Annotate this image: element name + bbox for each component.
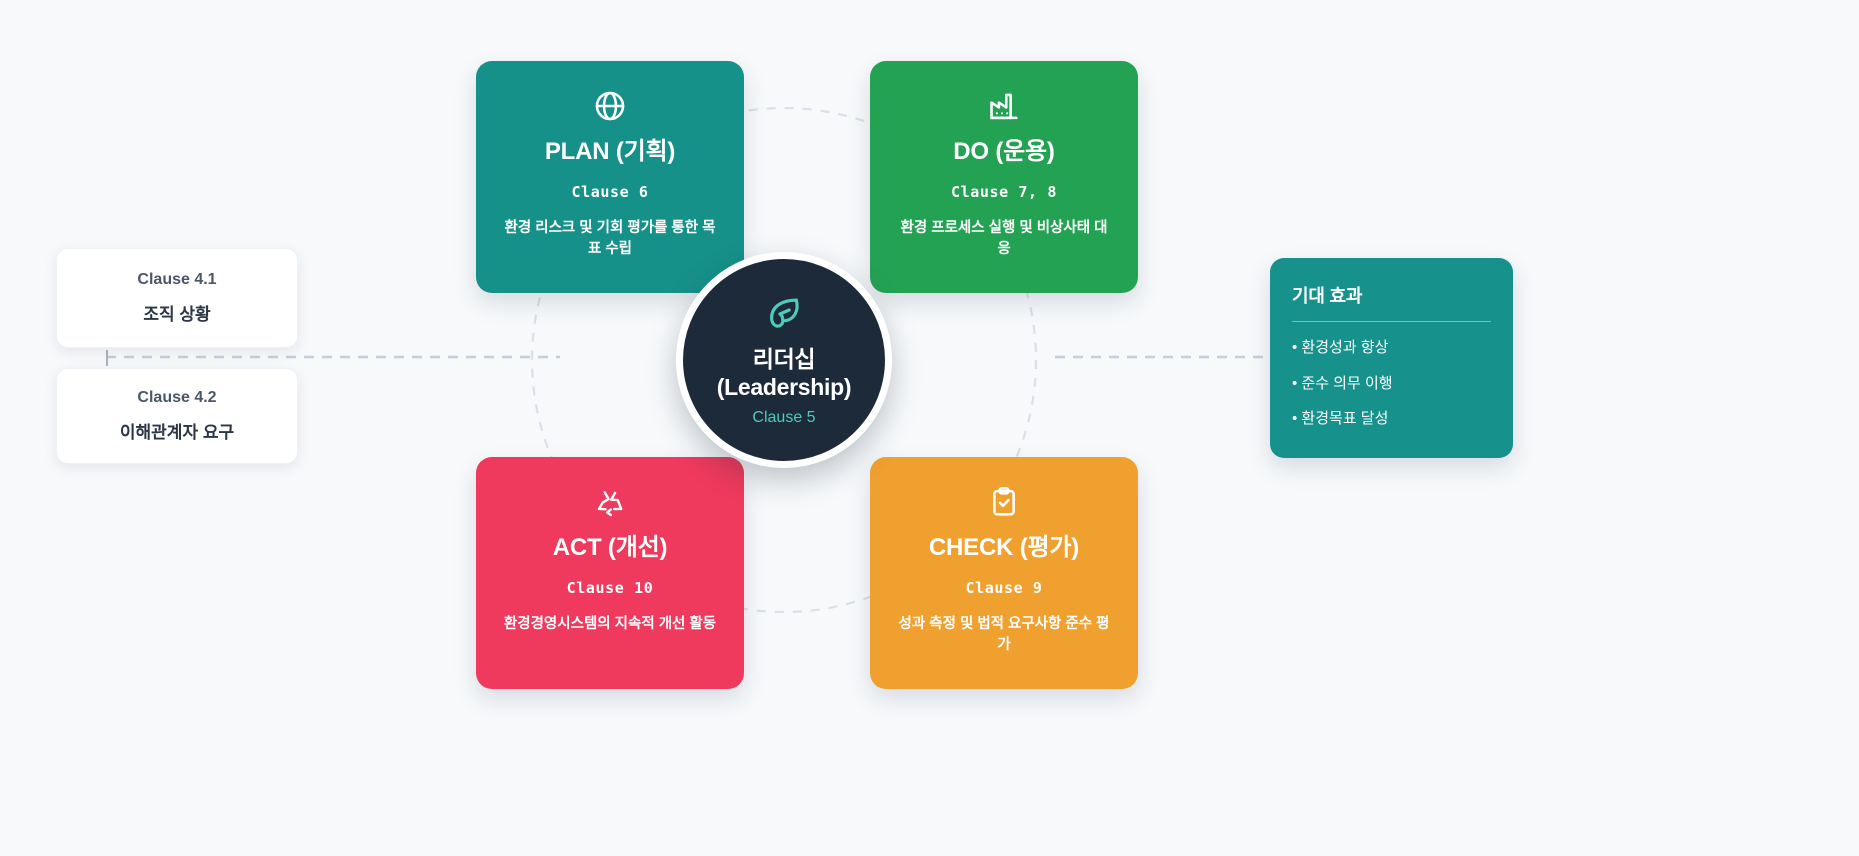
quadrant-description: 환경 프로세스 실행 및 비상사태 대응 [897, 218, 1112, 260]
benefits-divider [1292, 321, 1491, 322]
side-card-clause: Clause 4.2 [137, 389, 216, 407]
quadrant-description: 성과 측정 및 법적 요구사항 준수 평가 [897, 614, 1112, 656]
recycle-icon [593, 485, 627, 519]
quadrant-description: 환경경영시스템의 지속적 개선 활동 [504, 614, 716, 635]
quadrant-clause: Clause 7, 8 [951, 183, 1057, 201]
center-title: 리더십 (Leadership) [717, 345, 851, 401]
quadrant-clause: Clause 10 [567, 579, 654, 597]
quadrant-card-act[interactable]: ACT (개선) Clause 10 환경경영시스템의 지속적 개선 활동 [476, 457, 744, 689]
side-card-clause: Clause 4.1 [137, 271, 216, 289]
leaf-icon [764, 293, 804, 333]
quadrant-title: CHECK (평가) [929, 535, 1079, 561]
factory-icon [987, 89, 1021, 123]
quadrant-card-plan[interactable]: PLAN (기획) Clause 6 환경 리스크 및 기회 평가를 통한 목표… [476, 61, 744, 293]
quadrant-card-do[interactable]: DO (운용) Clause 7, 8 환경 프로세스 실행 및 비상사태 대응 [870, 61, 1138, 293]
benefits-title: 기대 효과 [1292, 282, 1491, 308]
quadrant-clause: Clause 9 [965, 579, 1042, 597]
quadrant-card-check[interactable]: CHECK (평가) Clause 9 성과 측정 및 법적 요구사항 준수 평… [870, 457, 1138, 689]
expected-benefits-panel[interactable]: 기대 효과 • 환경성과 향상 • 준수 의무 이행 • 환경목표 달성 [1270, 258, 1513, 458]
quadrant-title: ACT (개선) [553, 535, 668, 561]
benefit-item: • 준수 의무 이행 [1292, 374, 1491, 394]
quadrant-title: DO (운용) [953, 139, 1054, 165]
clipboard-check-icon [987, 485, 1021, 519]
side-card-name: 이해관계자 요구 [120, 418, 234, 443]
quadrant-clause: Clause 6 [571, 183, 648, 201]
side-card-name: 조직 상황 [143, 300, 210, 325]
quadrant-title: PLAN (기획) [545, 139, 675, 165]
center-leadership-node[interactable]: 리더십 (Leadership) Clause 5 [676, 252, 892, 468]
center-clause: Clause 5 [752, 409, 815, 427]
globe-icon [593, 89, 627, 123]
center-title-korean: 리더십 [717, 345, 851, 373]
benefit-item: • 환경목표 달성 [1292, 409, 1491, 429]
benefit-item: • 환경성과 향상 [1292, 338, 1491, 358]
side-card-clause-4-1[interactable]: Clause 4.1 조직 상황 [56, 248, 298, 348]
side-card-clause-4-2[interactable]: Clause 4.2 이해관계자 요구 [56, 368, 298, 464]
center-title-english: (Leadership) [717, 373, 851, 401]
pdca-diagram-canvas: PLAN (기획) Clause 6 환경 리스크 및 기회 평가를 통한 목표… [0, 0, 1859, 856]
quadrant-description: 환경 리스크 및 기회 평가를 통한 목표 수립 [503, 218, 718, 260]
